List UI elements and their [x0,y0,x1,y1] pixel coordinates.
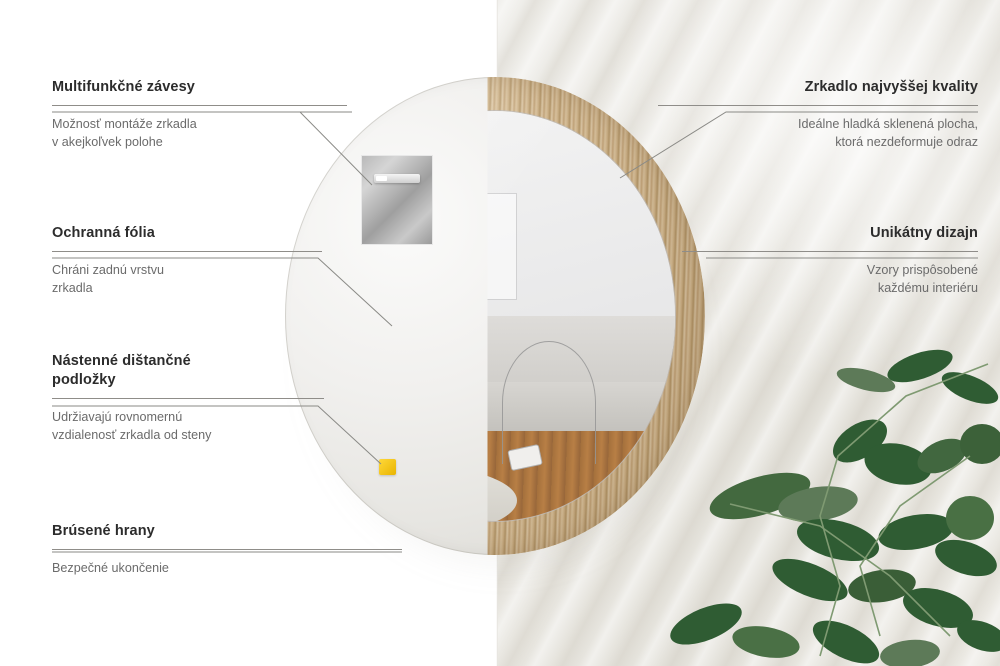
callout-zrkadlo-najvyssej-kvality: Zrkadlo najvyššej kvality Ideálne hladká… [658,78,978,151]
callout-desc-line1: Vzory prispôsobené [682,261,978,279]
callout-desc-line1: Možnosť montáže zrkadla [52,115,347,133]
callout-desc: Bezpečné ukončenie [52,559,402,577]
callout-desc: Vzory prispôsobené každému interiéru [682,261,978,298]
callout-title: Zrkadlo najvyššej kvality [658,78,978,97]
callout-desc-line1: Ideálne hladká sklenená plocha, [658,115,978,133]
callout-desc-line2: vzdialenosť zrkadla od steny [52,426,324,444]
callout-title: Ochranná fólia [52,224,322,243]
yellow-spacer-pad [379,459,396,475]
callout-desc-line2: zrkadla [52,279,322,297]
callout-title: Nástenné dištančné podložky [52,352,324,390]
callout-brusene-hrany: Brúsené hrany Bezpečné ukončenie [52,522,402,577]
callout-title-line2: podložky [52,371,324,390]
callout-unikatny-dizajn: Unikátny dizajn Vzory prispôsobené každé… [682,224,978,297]
callout-title: Unikátny dizajn [682,224,978,243]
callout-title: Brúsené hrany [52,522,402,541]
hanger-keyhole-slot [374,174,420,183]
hanger-bracket [361,155,433,245]
callout-rule [52,105,347,106]
infographic-canvas: Multifunkčné závesy Možnosť montáže zrka… [0,0,1000,666]
callout-desc-line2: každému interiéru [682,279,978,297]
callout-desc-line1: Udržiavajú rovnomernú [52,408,324,426]
callout-nastenne-distancne-podlozky: Nástenné dištančné podložky Udržiavajú r… [52,352,324,444]
callout-desc: Udržiavajú rovnomernú vzdialenosť zrkadl… [52,408,324,445]
callout-title-line1: Nástenné dištančné [52,352,324,371]
callout-rule [52,251,322,252]
callout-rule [52,549,402,550]
callout-desc-line1: Chráni zadnú vrstvu [52,261,322,279]
callout-desc-line2: ktorá nezdeformuje odraz [658,133,978,151]
callout-desc: Možnosť montáže zrkadla v akejkoľvek pol… [52,115,347,152]
reflected-arc-floor-lamp [502,341,596,464]
callout-title: Multifunkčné závesy [52,78,347,97]
callout-ochranna-folia: Ochranná fólia Chráni zadnú vrstvu zrkad… [52,224,322,297]
callout-rule [682,251,978,252]
callout-desc-line2: v akejkoľvek polohe [52,133,347,151]
product-round-mirror [285,77,705,555]
callout-desc: Chráni zadnú vrstvu zrkadla [52,261,322,298]
eucalyptus-foliage [670,336,1000,666]
callout-desc-line1: Bezpečné ukončenie [52,559,402,577]
callout-rule [52,398,324,399]
callout-rule [658,105,978,106]
callout-desc: Ideálne hladká sklenená plocha, ktorá ne… [658,115,978,152]
callout-multifunkcne-zavesy: Multifunkčné závesy Možnosť montáže zrka… [52,78,347,151]
